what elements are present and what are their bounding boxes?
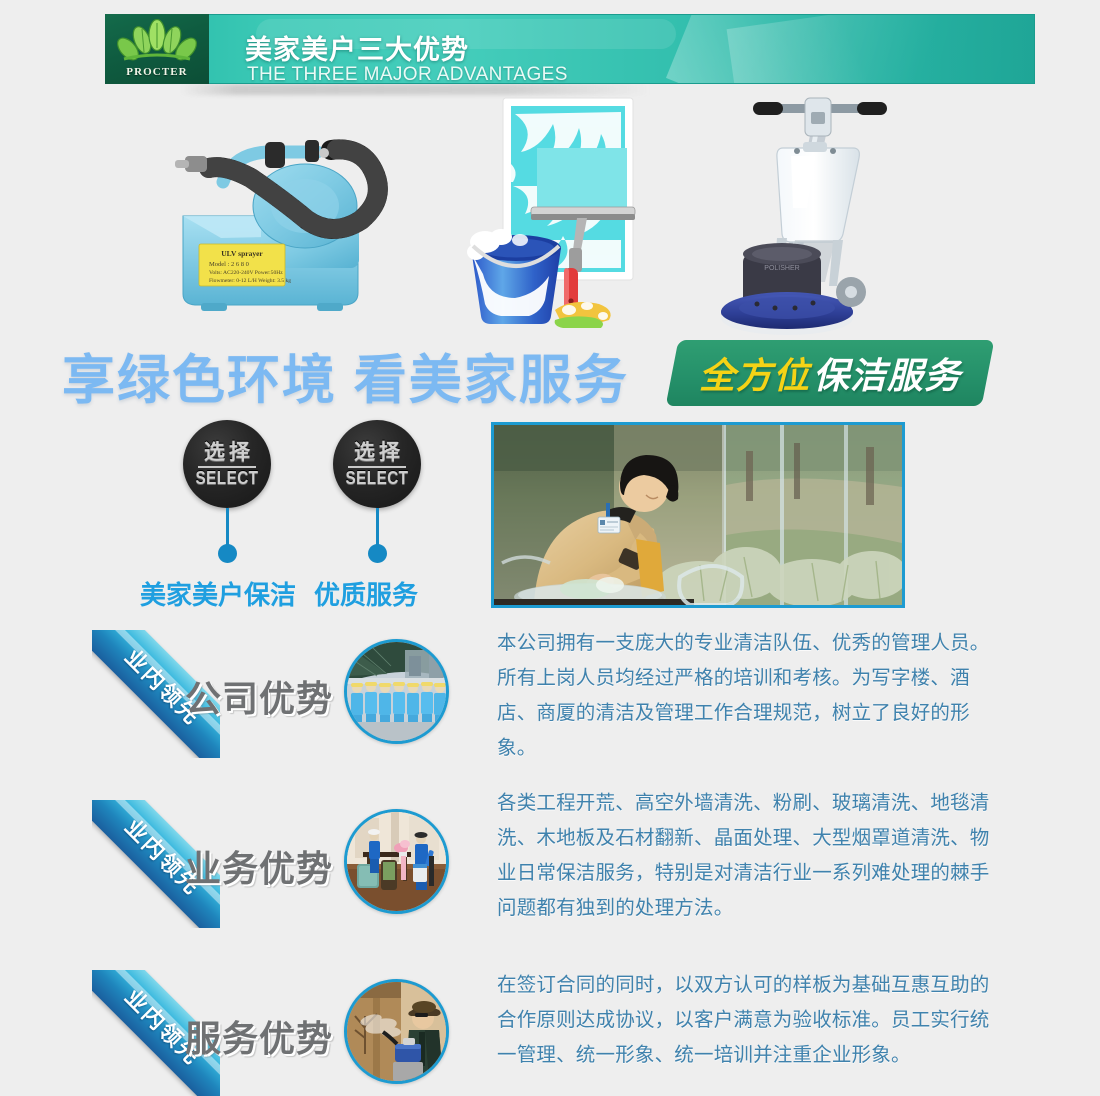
advantage-text: 本公司拥有一支庞大的专业清洁队伍、优秀的管理人员。所有上岗人员均经过严格的培训和… <box>497 626 1007 766</box>
select-badge-cn: 选择 <box>350 442 404 463</box>
main-slogan: 享绿色环境 看美家服务 <box>62 338 629 414</box>
advantage-row: 业内领先 业务优势 <box>0 792 1100 962</box>
advantage-rows: 业内领先 公司优势 <box>0 622 1100 1096</box>
leaf-crown-icon <box>114 19 200 67</box>
select-badge-1[interactable]: 选择 SELECT <box>183 420 271 508</box>
service-tag-text: 全方位 保洁服务 <box>672 340 988 406</box>
svg-text:Volts: AC220-240V Power:50Hz: Volts: AC220-240V Power:50Hz <box>209 270 283 276</box>
advantages-page: PROCTER 美家美户三大优势 THE THREE MAJOR ADVANTA… <box>0 0 1100 1096</box>
floor-polisher-image: POLISHER <box>715 88 915 338</box>
header-sheen-upper <box>727 14 1035 84</box>
service-tag-rest: 保洁服务 <box>813 347 961 399</box>
ulv-sprayer-image: ULV sprayer Model : 2 6 8 0 Volts: AC220… <box>165 98 415 328</box>
select-badge-stem <box>226 508 229 548</box>
header-title-cn: 美家美户三大优势 <box>245 28 469 67</box>
service-tag-banner: 全方位 保洁服务 <box>672 340 988 406</box>
cleaner-wiping-glass-table-photo <box>491 422 905 608</box>
spraying-cleaner-photo <box>344 979 449 1084</box>
service-tag-highlight: 全方位 <box>699 347 813 399</box>
header-sheen-diagonal <box>666 14 952 84</box>
select-badge-circle: 选择 SELECT <box>183 420 271 508</box>
advantage-title: 公司优势 <box>185 670 345 722</box>
select-badge-dot <box>218 544 237 563</box>
svg-text:POLISHER: POLISHER <box>764 265 799 272</box>
select-badge-2[interactable]: 选择 SELECT <box>333 420 421 508</box>
select-badge-label-1: 美家美户保洁 <box>140 575 296 612</box>
advantage-text: 在签订合同的同时，以双方认可的样板为基础互惠互助的合作原则达成协议，以客户满意为… <box>497 968 1007 1073</box>
select-badge-label-2: 优质服务 <box>314 575 418 612</box>
select-badge-dot <box>368 544 387 563</box>
page-header: PROCTER 美家美户三大优势 THE THREE MAJOR ADVANTA… <box>105 14 1035 84</box>
svg-text:Flowmeter: 0-12 L/H Weight:: Flowmeter: 0-12 L/H Weight: 3.5 kg <box>209 278 291 284</box>
company-logo: PROCTER <box>105 14 209 84</box>
indoor-cleaning-photo <box>344 809 449 914</box>
staff-team-lineup-photo <box>344 639 449 744</box>
window-squeegee-image <box>445 90 685 330</box>
select-badge-en: SELECT <box>196 469 259 487</box>
select-badge-cn: 选择 <box>200 442 254 463</box>
svg-text:Model : 2 6 8 0: Model : 2 6 8 0 <box>209 261 249 268</box>
select-badge-en: SELECT <box>346 469 409 487</box>
svg-text:ULV sprayer: ULV sprayer <box>221 249 263 258</box>
advantage-row: 业内领先 公司优势 <box>0 622 1100 792</box>
logo-wordmark: PROCTER <box>105 66 209 78</box>
advantage-row: 业内领先 服务优势 <box>0 962 1100 1096</box>
advantage-title: 服务优势 <box>185 1010 345 1062</box>
select-badge-stem <box>376 508 379 548</box>
select-badge-labels: 美家美户保洁优质服务 <box>140 575 418 612</box>
advantage-text: 各类工程开荒、高空外墙清洗、粉刷、玻璃清洗、地毯清洗、木地板及石材翻新、晶面处理… <box>497 786 1007 926</box>
product-image-strip: ULV sprayer Model : 2 6 8 0 Volts: AC220… <box>0 88 1100 343</box>
advantage-title: 业务优势 <box>185 840 345 892</box>
header-title-en: THE THREE MAJOR ADVANTAGES <box>247 64 568 86</box>
select-badge-circle: 选择 SELECT <box>333 420 421 508</box>
